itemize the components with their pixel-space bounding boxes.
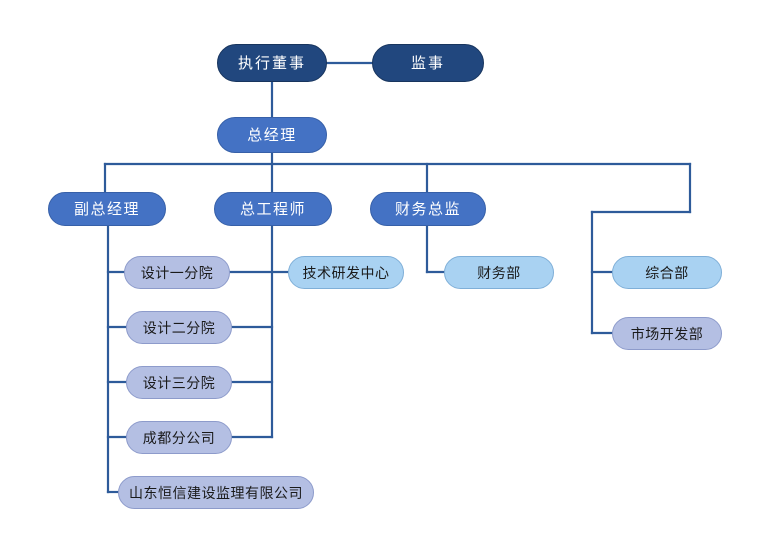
node-label: 执行董事 <box>218 56 326 71</box>
node-label: 设计三分院 <box>127 376 231 390</box>
node-label: 监事 <box>373 56 483 71</box>
node-design-institute-1[interactable]: 设计一分院 <box>124 256 230 289</box>
node-label: 财务部 <box>445 266 553 280</box>
node-finance-department[interactable]: 财务部 <box>444 256 554 289</box>
org-chart: 执行董事 监事 总经理 副总经理 总工程师 财务总监 设计一分院 设计二分院 设… <box>0 0 777 550</box>
node-label: 设计二分院 <box>127 321 231 335</box>
node-general-affairs-department[interactable]: 综合部 <box>612 256 722 289</box>
node-label: 财务总监 <box>371 202 485 217</box>
node-general-manager[interactable]: 总经理 <box>217 117 327 153</box>
node-chengdu-branch[interactable]: 成都分公司 <box>126 421 232 454</box>
node-label: 技术研发中心 <box>289 266 403 280</box>
node-finance-director[interactable]: 财务总监 <box>370 192 486 226</box>
node-label: 综合部 <box>613 266 721 280</box>
node-deputy-general-manager[interactable]: 副总经理 <box>48 192 166 226</box>
node-supervisor[interactable]: 监事 <box>372 44 484 82</box>
node-label: 成都分公司 <box>127 431 231 445</box>
node-market-development-department[interactable]: 市场开发部 <box>612 317 722 350</box>
node-exec-director[interactable]: 执行董事 <box>217 44 327 82</box>
node-label: 市场开发部 <box>613 327 721 341</box>
node-design-institute-3[interactable]: 设计三分院 <box>126 366 232 399</box>
node-label: 山东恒信建设监理有限公司 <box>119 486 313 500</box>
node-chief-engineer[interactable]: 总工程师 <box>214 192 332 226</box>
node-label: 设计一分院 <box>125 266 229 280</box>
node-label: 副总经理 <box>49 202 165 217</box>
node-design-institute-2[interactable]: 设计二分院 <box>126 311 232 344</box>
node-rnd-center[interactable]: 技术研发中心 <box>288 256 404 289</box>
node-label: 总经理 <box>218 128 326 143</box>
node-label: 总工程师 <box>215 202 331 217</box>
node-shandong-supervision-company[interactable]: 山东恒信建设监理有限公司 <box>118 476 314 509</box>
